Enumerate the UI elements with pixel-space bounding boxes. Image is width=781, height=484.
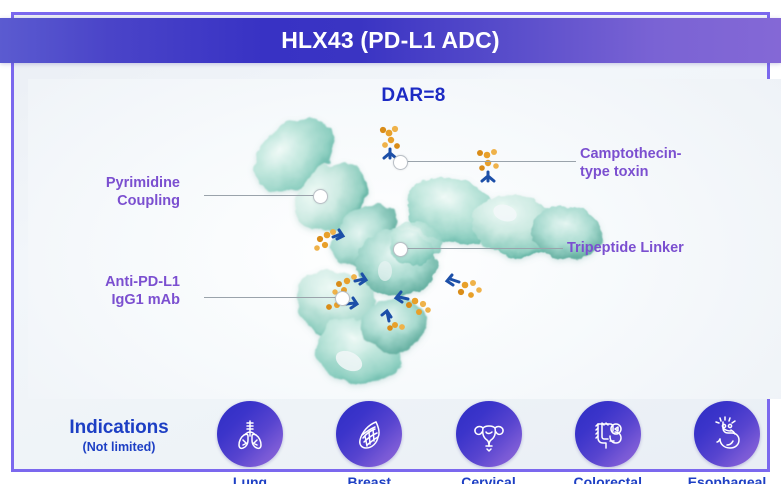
anchor-dot-pyrimidine [313,189,328,204]
indication-item-breast[interactable]: Breast [315,401,423,484]
indications-section: Indications (Not limited) [28,399,781,484]
indication-item-colorectal[interactable]: Colorectal [554,401,662,484]
anchor-dot-linker [393,242,408,257]
callout-camptothecin-type-toxin: Camptothecin- type toxin [580,146,770,181]
indication-label-colorectal: Colorectal [574,474,642,484]
slide-root: Pyrimidine Coupling Anti-PD-L1 IgG1 mAb … [0,0,781,484]
callout-tripeptide-linker: Tripeptide Linker [567,240,767,258]
indication-label-esophageal: Esophageal [688,474,767,484]
leader-line-pyrimidine [204,195,317,196]
indication-item-cervical[interactable]: Cervical [435,401,543,484]
leader-line-toxin [406,161,576,162]
colon-icon [575,401,641,467]
anchor-dot-mab [335,291,350,306]
indication-label-lung: Lung [233,474,267,484]
indication-label-cervical: Cervical [461,474,515,484]
uterus-icon [456,401,522,467]
breast-icon [336,401,402,467]
anchor-dot-toxin [393,155,408,170]
indication-item-lung[interactable]: Lung [196,401,304,484]
leader-line-mab [204,297,339,298]
indication-item-esophageal[interactable]: Esophageal [673,401,781,484]
slide-panel: Pyrimidine Coupling Anti-PD-L1 IgG1 mAb … [11,12,770,472]
slide-title-bar: HLX43 (PD-L1 ADC) [0,18,781,63]
callout-pyrimidine-coupling: Pyrimidine Coupling [44,175,180,210]
indication-label-breast: Breast [347,474,391,484]
stomach-icon [694,401,760,467]
leader-line-linker [406,248,563,249]
indications-list: Lung Breast [196,401,781,484]
indications-title: Indications [44,417,194,439]
indications-title-block: Indications (Not limited) [44,417,194,454]
callout-anti-pdl1-igg1-mab: Anti-PD-L1 IgG1 mAb [44,274,180,309]
lungs-icon [217,401,283,467]
antibody-drug-conjugate-illustration [219,93,619,393]
indications-subtitle: (Not limited) [44,440,194,454]
page-title: HLX43 (PD-L1 ADC) [281,27,500,54]
